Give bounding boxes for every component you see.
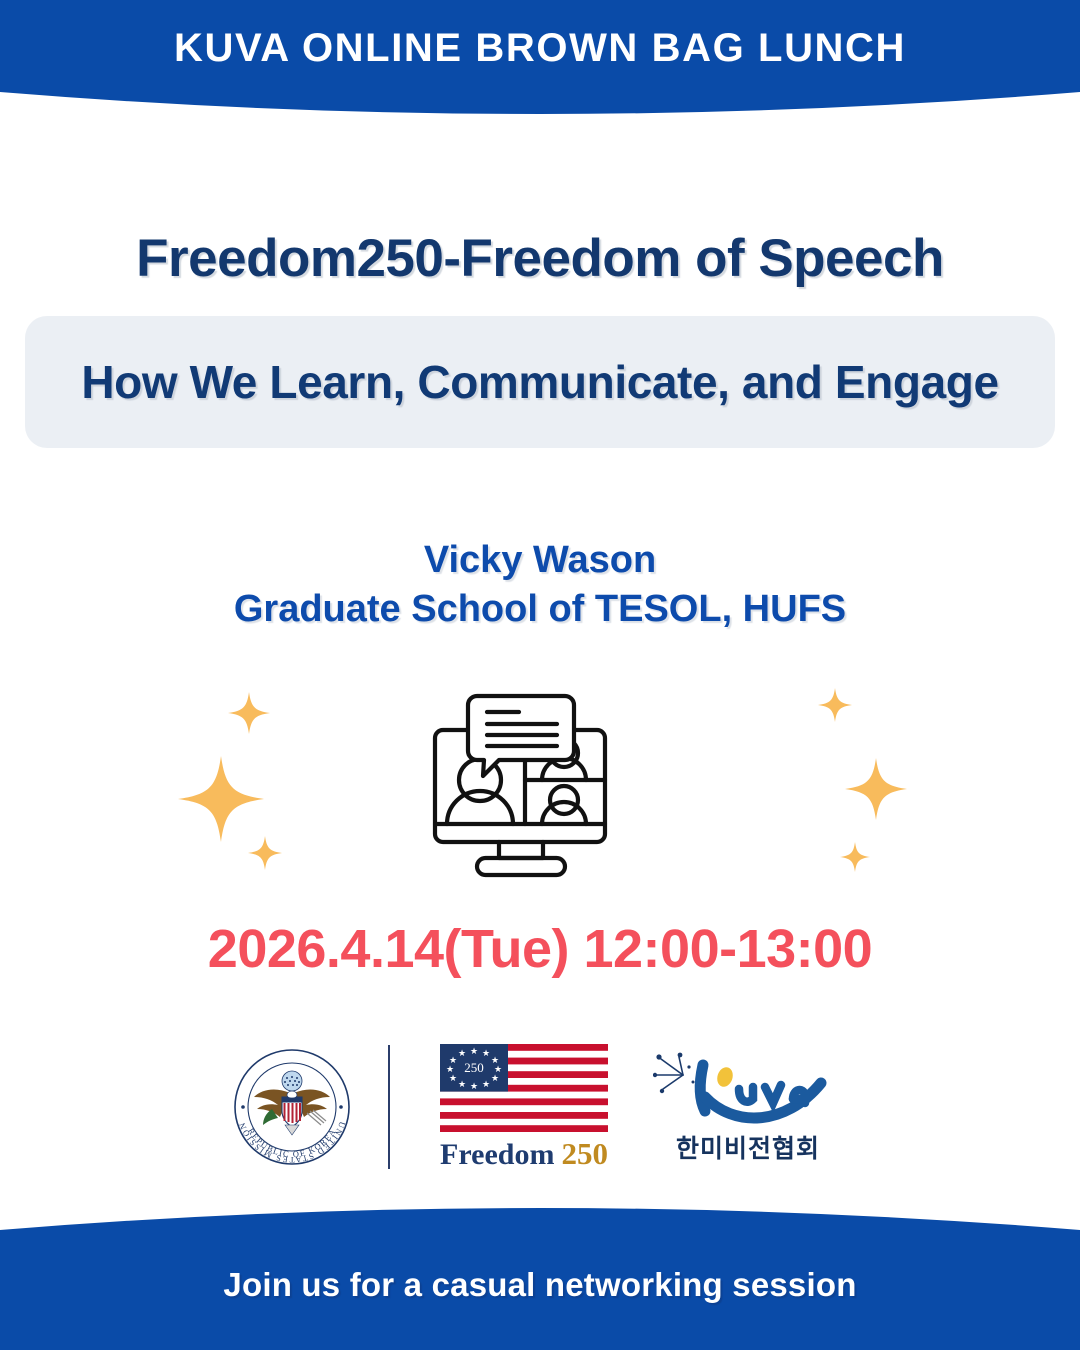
page-title: Freedom250-Freedom of Speech xyxy=(0,228,1080,289)
video-conference-monitor-icon xyxy=(425,690,635,885)
flag-badge-number: 250 xyxy=(464,1060,484,1075)
header-banner-title: KUVA ONLINE BROWN BAG LUNCH xyxy=(0,26,1080,71)
subtitle-box: How We Learn, Communicate, and Engage xyxy=(25,316,1055,448)
sparkle-star-icon xyxy=(840,842,870,872)
sparkle-star-icon xyxy=(818,688,852,722)
svg-text:★: ★ xyxy=(458,1048,466,1058)
kuva-korean-name: 한미비전협회 xyxy=(676,1129,820,1165)
sparkle-star-icon xyxy=(178,756,264,842)
speaker-affiliation: Graduate School of TESOL, HUFS xyxy=(0,585,1080,634)
freedom-250-wordmark: Freedom 250 xyxy=(440,1138,608,1170)
footer-text: Join us for a casual networking session xyxy=(0,1266,1080,1304)
kuva-logo: 한미비전협회 xyxy=(648,1049,848,1165)
event-poster: KUVA ONLINE BROWN BAG LUNCH Freedom250-F… xyxy=(0,0,1080,1350)
us-mission-korea-seal-icon: UNITED STATES MISSION REPUBLIC OF KOREA xyxy=(232,1047,352,1167)
sparkle-star-icon xyxy=(228,692,270,734)
sparkle-star-icon xyxy=(845,758,907,820)
svg-text:★: ★ xyxy=(470,1046,478,1056)
freedom-number-text: 250 xyxy=(561,1138,608,1169)
svg-text:★: ★ xyxy=(449,1073,457,1083)
illustration-area xyxy=(0,670,1080,900)
svg-text:★: ★ xyxy=(482,1079,490,1089)
speaker-block: Vicky Wason Graduate School of TESOL, HU… xyxy=(0,536,1080,633)
freedom-250-logo: 250 ★ ★★ ★★ ★★ ★★ ★★ ★ Freedom 250 xyxy=(424,1044,624,1170)
svg-text:★: ★ xyxy=(458,1079,466,1089)
svg-text:★: ★ xyxy=(482,1048,490,1058)
betsy-ross-flag-icon: 250 ★ ★★ ★★ ★★ ★★ ★★ ★ xyxy=(440,1044,608,1132)
svg-text:★: ★ xyxy=(470,1081,478,1091)
sparkle-star-icon xyxy=(248,836,282,870)
logo-row: UNITED STATES MISSION REPUBLIC OF KOREA xyxy=(0,1032,1080,1182)
event-date-time: 2026.4.14(Tue) 12:00-13:00 xyxy=(0,918,1080,980)
kuva-wordmark-icon xyxy=(653,1049,843,1133)
freedom-word-text: Freedom xyxy=(440,1140,554,1170)
subtitle-text: How We Learn, Communicate, and Engage xyxy=(67,355,1012,409)
logo-divider xyxy=(388,1045,390,1169)
svg-text:★: ★ xyxy=(491,1073,499,1083)
speaker-name: Vicky Wason xyxy=(0,536,1080,585)
